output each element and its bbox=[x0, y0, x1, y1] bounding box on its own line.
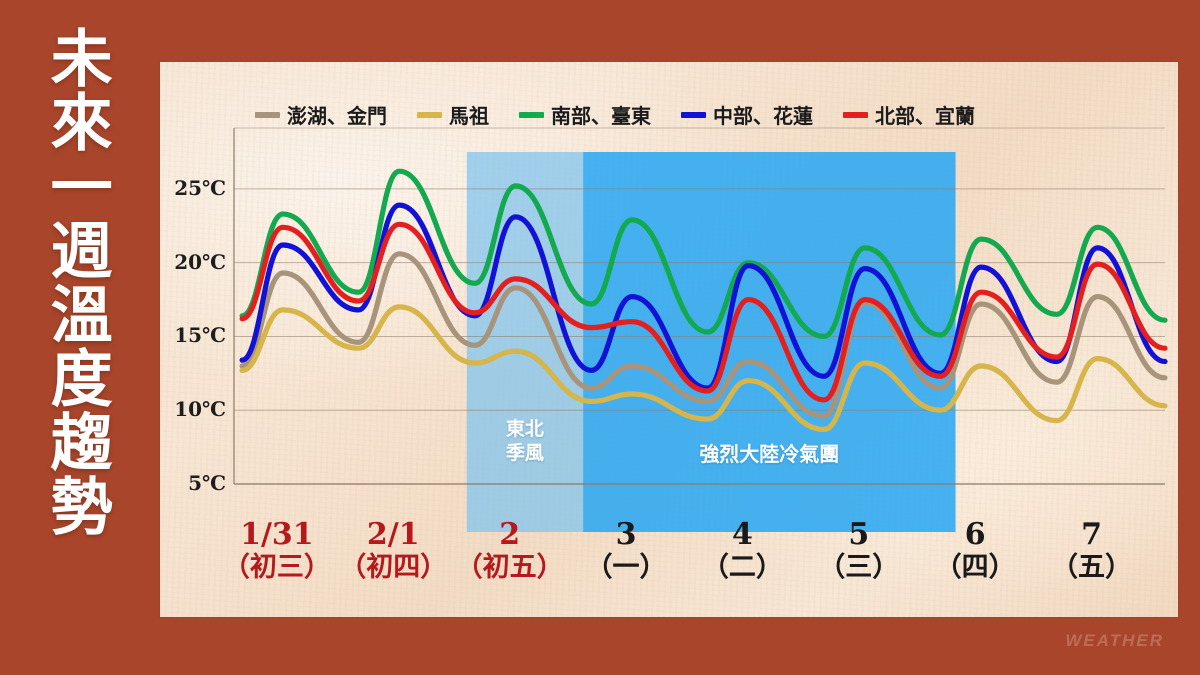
x-axis-date-label: 1/31（初三） bbox=[217, 518, 337, 583]
x-axis-date-label: 6（四） bbox=[915, 518, 1035, 583]
x-axis-date-label: 3（一） bbox=[566, 518, 686, 583]
x-axis-date-label: 2（初五） bbox=[450, 518, 570, 583]
x-axis-date: 2/1 bbox=[333, 518, 453, 551]
y-axis-tick-label: 15℃ bbox=[164, 323, 226, 347]
x-axis-date: 1/31 bbox=[217, 518, 337, 551]
x-axis-weekday: （一） bbox=[566, 553, 686, 583]
x-axis-weekday: （四） bbox=[915, 553, 1035, 583]
x-axis-weekday: （初四） bbox=[333, 553, 453, 583]
x-axis-tick-labels: 1/31（初三）2/1（初四）2（初五）3（一）4（二）5（三）6（四）7（五） bbox=[160, 502, 1178, 602]
x-axis-date: 4 bbox=[682, 518, 802, 551]
x-axis-date: 3 bbox=[566, 518, 686, 551]
weather-graphic: 未來一週溫度趨勢 澎湖、金門馬祖南部、臺東中部、花蓮北部、宜蘭 5℃10℃15℃… bbox=[0, 0, 1200, 675]
x-axis-date-label: 7（五） bbox=[1032, 518, 1152, 583]
headline-column: 未來一週溫度趨勢 bbox=[0, 0, 152, 675]
page-title: 未來一週溫度趨勢 bbox=[44, 26, 107, 538]
x-axis-date: 6 bbox=[915, 518, 1035, 551]
y-axis-tick-label: 5℃ bbox=[164, 471, 226, 495]
x-axis-weekday: （二） bbox=[682, 553, 802, 583]
y-axis-tick-label: 10℃ bbox=[164, 397, 226, 421]
annotation-monsoon-line1: 東北 bbox=[506, 418, 544, 440]
x-axis-date: 5 bbox=[799, 518, 919, 551]
plot-area: 5℃10℃15℃20℃25℃ 東北 季風 強烈大陸冷氣團 1/31（初三）2/1… bbox=[160, 62, 1178, 617]
chart-panel: 澎湖、金門馬祖南部、臺東中部、花蓮北部、宜蘭 5℃10℃15℃20℃25℃ 東北… bbox=[160, 62, 1178, 617]
x-axis-weekday: （初三） bbox=[217, 553, 337, 583]
y-axis-tick-label: 25℃ bbox=[164, 176, 226, 200]
annotation-monsoon-line2: 季風 bbox=[506, 442, 544, 464]
x-axis-date: 7 bbox=[1032, 518, 1152, 551]
x-axis-weekday: （三） bbox=[799, 553, 919, 583]
x-axis-weekday: （初五） bbox=[450, 553, 570, 583]
x-axis-date-label: 5（三） bbox=[799, 518, 919, 583]
x-axis-weekday: （五） bbox=[1032, 553, 1152, 583]
annotation-cold-air-mass: 強烈大陸冷氣團 bbox=[609, 442, 929, 467]
annotation-northeast-monsoon: 東北 季風 bbox=[485, 418, 565, 466]
x-axis-date: 2 bbox=[450, 518, 570, 551]
x-axis-date-label: 2/1（初四） bbox=[333, 518, 453, 583]
y-axis-tick-label: 20℃ bbox=[164, 250, 226, 274]
x-axis-date-label: 4（二） bbox=[682, 518, 802, 583]
watermark: WEATHER bbox=[1065, 631, 1164, 651]
